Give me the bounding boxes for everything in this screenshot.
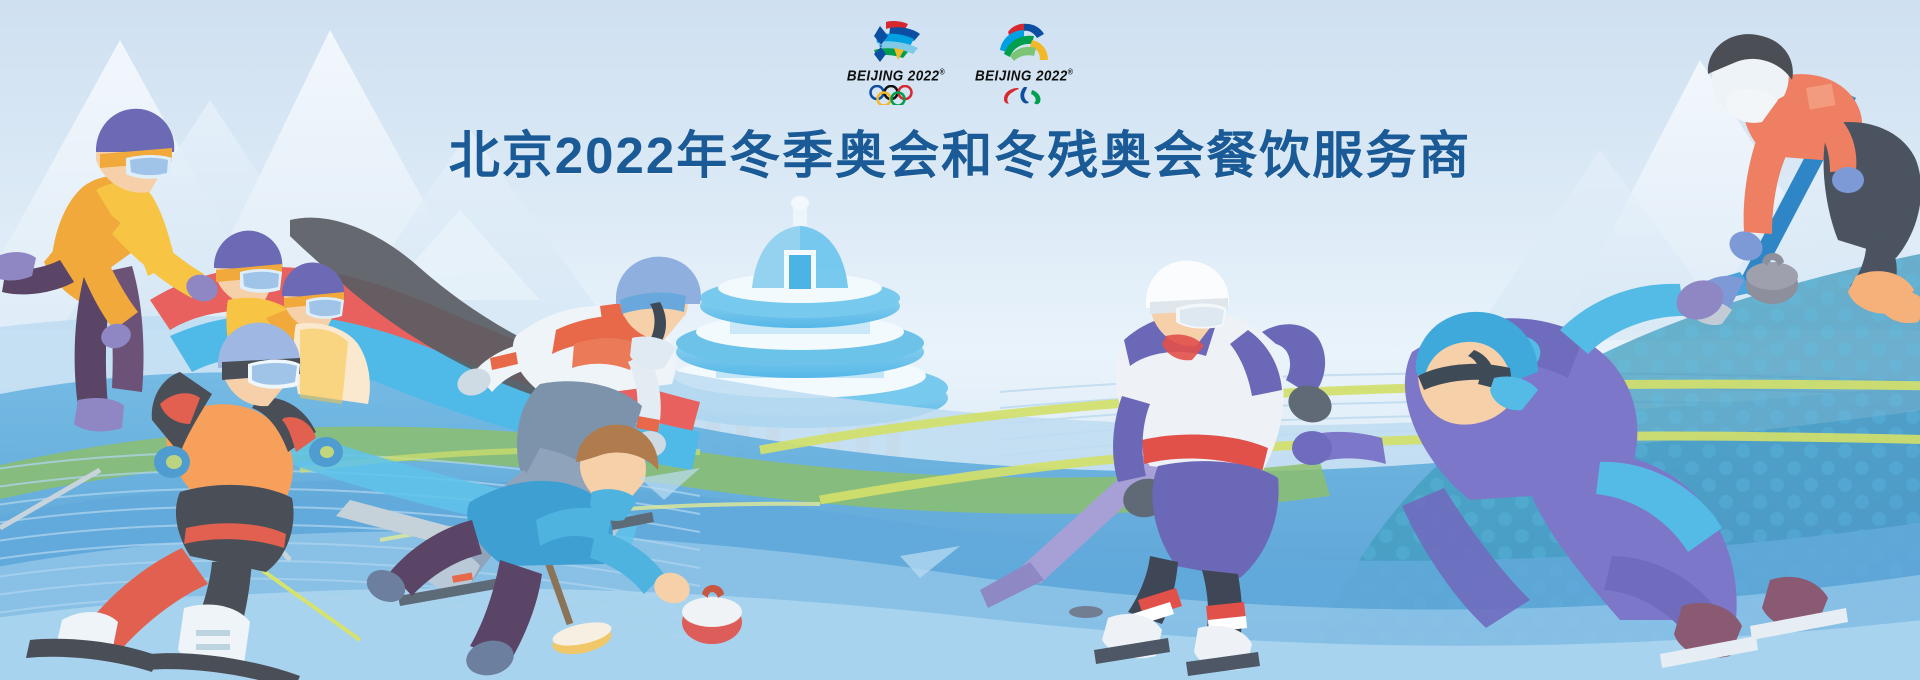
paralympic-logo-unit: BEIJING 2022® <box>975 18 1073 105</box>
beijing-2022-banner: BEIJING 2022® <box>0 0 1920 680</box>
logo-row: BEIJING 2022® <box>847 18 1073 110</box>
olympic-wordmark: BEIJING 2022® <box>847 67 945 84</box>
ice-shards <box>640 468 960 578</box>
page-title: 北京2022年冬季奥会和冬残奥会餐饮服务商 <box>449 130 1471 181</box>
paralympic-agitos <box>996 85 1052 105</box>
banner-header: BEIJING 2022® <box>0 18 1920 181</box>
olympic-rings <box>866 85 926 105</box>
olympic-logo-unit: BEIJING 2022® <box>847 18 945 105</box>
paralympic-wordmark: BEIJING 2022® <box>975 67 1073 84</box>
beijing-2022-olympic-emblem <box>864 18 928 66</box>
beijing-2022-paralympic-emblem <box>992 18 1056 66</box>
